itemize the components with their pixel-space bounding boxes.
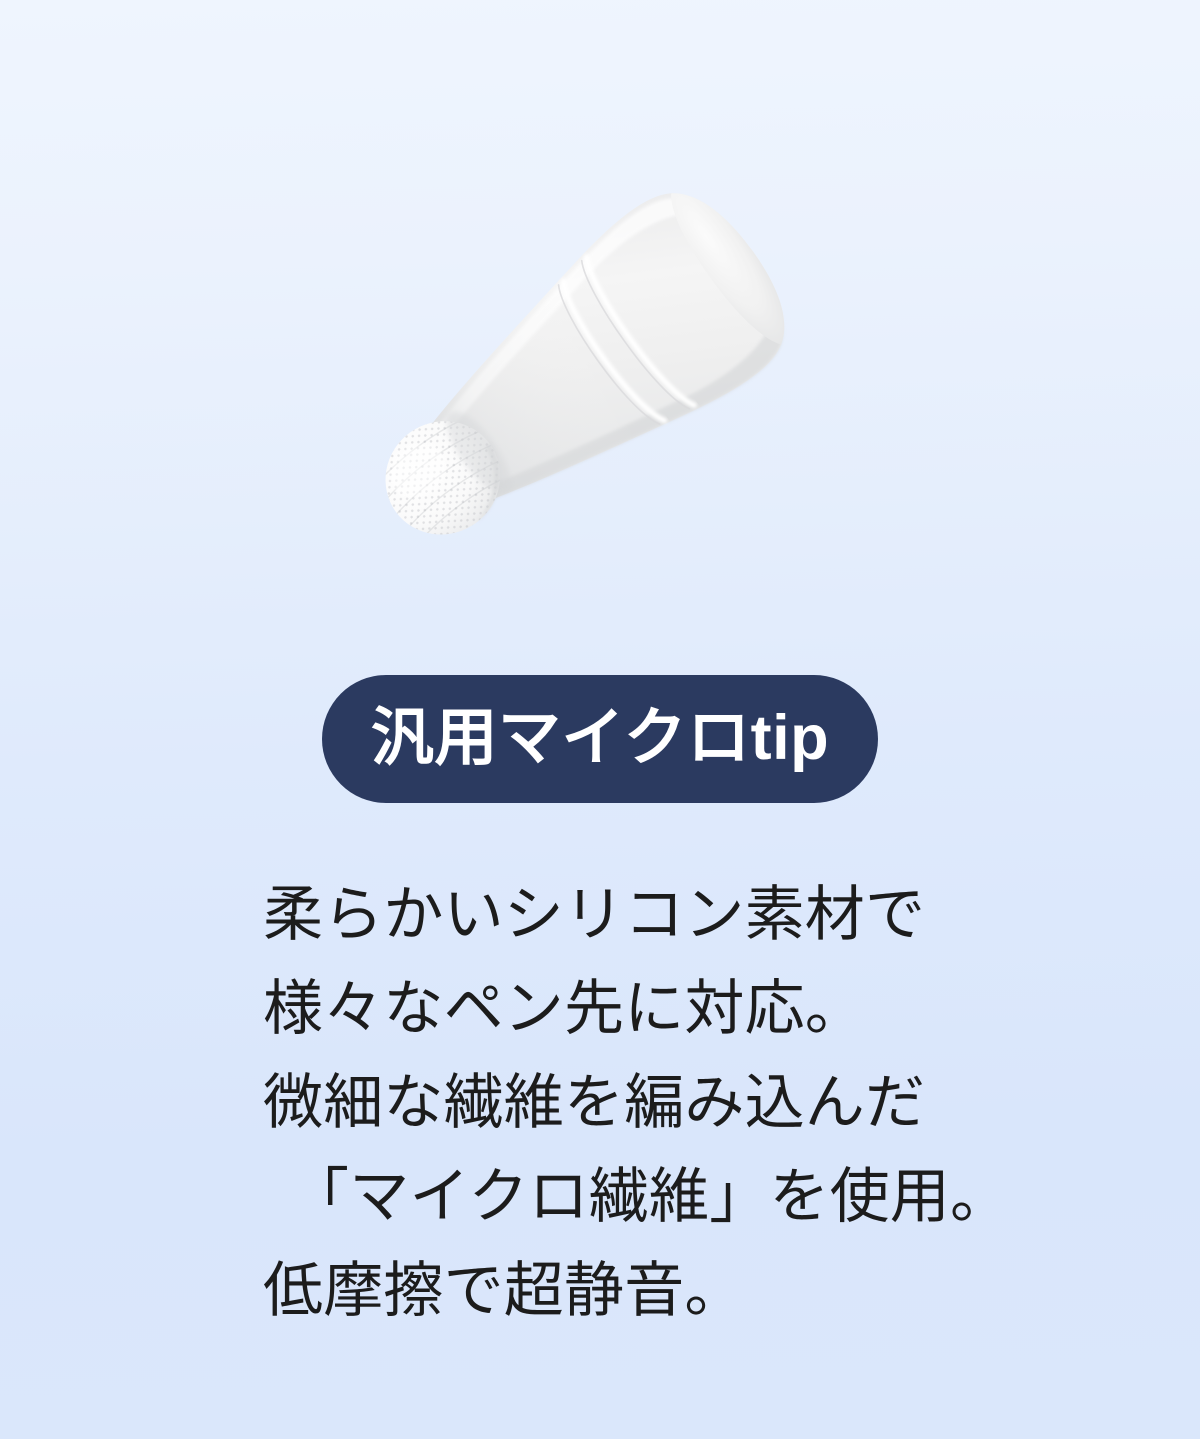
title-badge-label: 汎用マイクロtip <box>371 707 829 770</box>
description-line-4: 「マイクロ繊維」を使用。 <box>263 1150 1023 1244</box>
product-hero-image <box>0 0 1200 640</box>
title-badge: 汎用マイクロtip <box>322 675 878 803</box>
description-line-3: 微細な繊維を編み込んだ <box>263 1056 1023 1150</box>
title-badge-container: 汎用マイクロtip <box>0 675 1200 803</box>
pen-tip-illustration <box>0 0 1200 640</box>
description-block: 柔らかいシリコン素材で 様々なペン先に対応。 微細な繊維を編み込んだ 「マイクロ… <box>263 868 1023 1338</box>
promo-page: 汎用マイクロtip 柔らかいシリコン素材で 様々なペン先に対応。 微細な繊維を編… <box>0 0 1200 1439</box>
description-line-2: 様々なペン先に対応。 <box>263 962 1023 1056</box>
description-line-1: 柔らかいシリコン素材で <box>263 868 1023 962</box>
description-line-5: 低摩擦で超静音。 <box>263 1244 1023 1338</box>
